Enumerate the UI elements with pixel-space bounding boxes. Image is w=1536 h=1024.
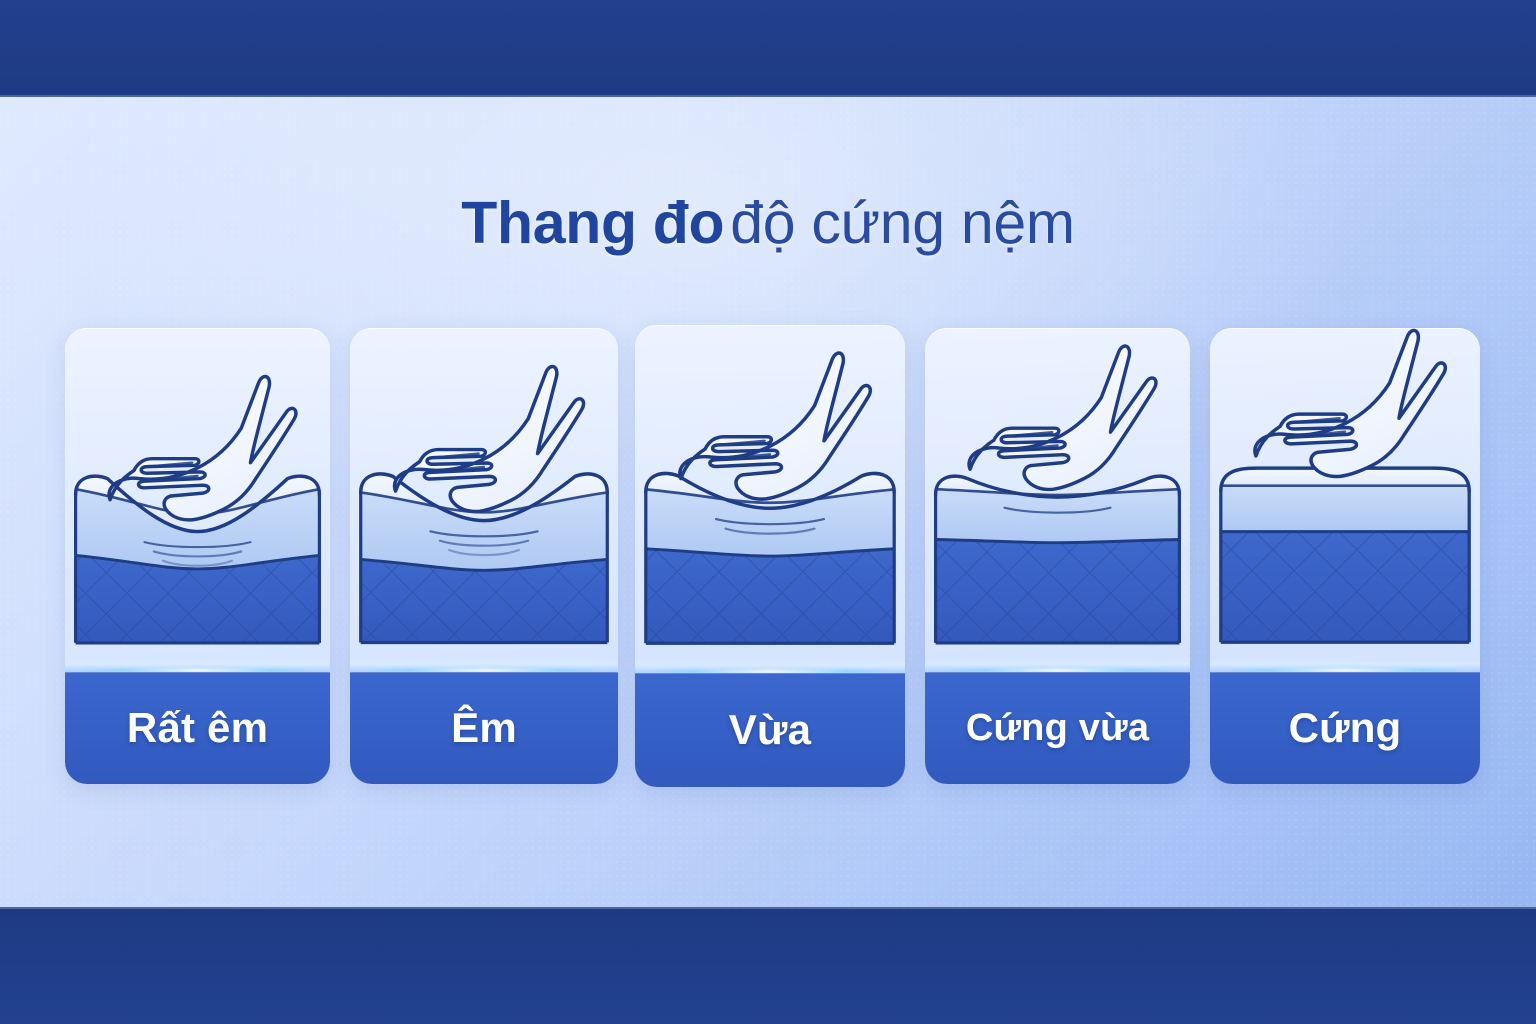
card-inner: Rất êm xyxy=(65,328,330,784)
card-glow-divider xyxy=(635,659,905,673)
card-glow-divider xyxy=(350,658,618,672)
firmness-card-row: Rất êm xyxy=(0,0,1536,1024)
firmness-card-rat-em[interactable]: Rất êm xyxy=(65,328,330,784)
card-glow-divider xyxy=(1210,658,1480,672)
firmness-label-cung: Cứng xyxy=(1289,704,1402,752)
card-inner: Êm xyxy=(350,328,618,784)
mattress-cross-section-cung-vua xyxy=(925,328,1190,672)
firmness-label-bar-vua[interactable]: Vừa xyxy=(635,673,905,787)
firmness-card-cung-vua[interactable]: Cứng vừa xyxy=(925,328,1190,784)
firmness-label-em: Êm xyxy=(451,704,517,752)
card-glow-divider xyxy=(65,658,330,672)
mattress-cross-section-cung xyxy=(1210,328,1480,672)
firmness-card-cung[interactable]: Cứng xyxy=(1210,328,1480,784)
infographic-canvas: Thang đođộ cứng nệm xyxy=(0,0,1536,1024)
bottom-navy-bar xyxy=(0,907,1536,1024)
firmness-label-bar-cung[interactable]: Cứng xyxy=(1210,672,1480,784)
firmness-card-em[interactable]: Êm xyxy=(350,328,618,784)
firmness-label-bar-rat-em[interactable]: Rất êm xyxy=(65,672,330,784)
bottom-bar-edge xyxy=(0,907,1536,909)
firmness-label-bar-cung-vua[interactable]: Cứng vừa xyxy=(925,672,1190,784)
card-inner: Vừa xyxy=(635,325,905,787)
card-inner: Cứng xyxy=(1210,328,1480,784)
firmness-card-vua[interactable]: Vừa xyxy=(635,325,905,787)
firmness-label-bar-em[interactable]: Êm xyxy=(350,672,618,784)
mattress-cross-section-vua xyxy=(635,325,905,673)
card-inner: Cứng vừa xyxy=(925,328,1190,784)
card-glow-divider xyxy=(925,658,1190,672)
firmness-label-vua: Vừa xyxy=(729,706,811,754)
mattress-cross-section-em xyxy=(350,328,618,672)
mattress-cross-section-rat-em xyxy=(65,328,330,672)
firmness-label-rat-em: Rất êm xyxy=(127,704,268,752)
firmness-label-cung-vua: Cứng vừa xyxy=(966,707,1149,750)
